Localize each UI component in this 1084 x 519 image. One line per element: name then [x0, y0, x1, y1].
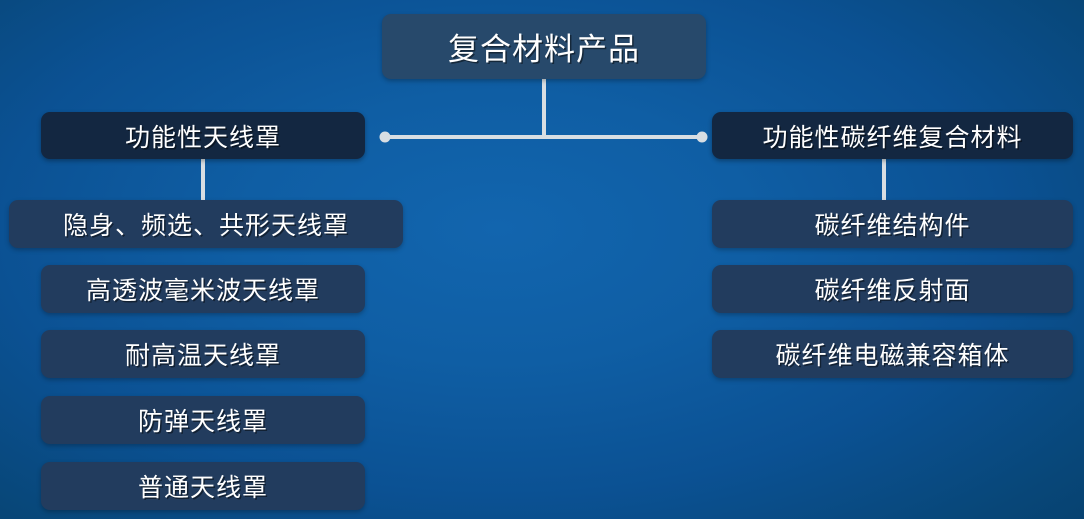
node-leaf-left-1-label: 隐身、频选、共形天线罩 [63, 206, 349, 242]
diagram-canvas: 复合材料产品 功能性天线罩 隐身、频选、共形天线罩 高透波毫米波天线罩 耐高温天… [0, 0, 1084, 519]
node-root[interactable]: 复合材料产品 [382, 14, 706, 79]
node-leaf-left-3-label: 耐高温天线罩 [125, 336, 281, 372]
node-root-label: 复合材料产品 [448, 24, 640, 69]
node-leaf-left-2[interactable]: 高透波毫米波天线罩 [41, 265, 365, 313]
node-leaf-left-3[interactable]: 耐高温天线罩 [41, 330, 365, 378]
node-leaf-left-1[interactable]: 隐身、频选、共形天线罩 [9, 200, 403, 248]
node-branch-right-label: 功能性碳纤维复合材料 [762, 118, 1022, 154]
node-leaf-right-1-label: 碳纤维结构件 [814, 206, 970, 242]
node-leaf-right-3-label: 碳纤维电磁兼容箱体 [775, 336, 1009, 372]
node-leaf-left-5[interactable]: 普通天线罩 [41, 462, 365, 510]
node-leaf-right-2[interactable]: 碳纤维反射面 [712, 265, 1073, 313]
node-branch-left[interactable]: 功能性天线罩 [41, 112, 365, 159]
node-leaf-right-2-label: 碳纤维反射面 [814, 271, 970, 307]
node-leaf-left-4[interactable]: 防弹天线罩 [41, 396, 365, 444]
node-leaf-right-1[interactable]: 碳纤维结构件 [712, 200, 1073, 248]
node-branch-right[interactable]: 功能性碳纤维复合材料 [712, 112, 1073, 159]
node-leaf-left-4-label: 防弹天线罩 [138, 402, 268, 438]
node-leaf-right-3[interactable]: 碳纤维电磁兼容箱体 [712, 330, 1073, 378]
connector-dot-left [380, 132, 391, 143]
node-leaf-left-2-label: 高透波毫米波天线罩 [86, 271, 320, 307]
node-leaf-left-5-label: 普通天线罩 [138, 468, 268, 504]
node-branch-left-label: 功能性天线罩 [125, 118, 281, 154]
connector-dot-right [697, 132, 708, 143]
